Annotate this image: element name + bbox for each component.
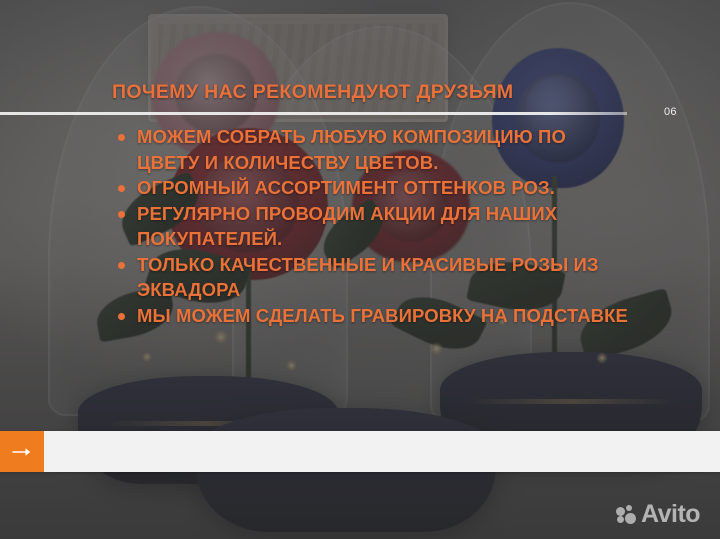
list-item: ОГРОМНЫЙ АССОРТИМЕНТ ОТТЕНКОВ РОЗ. xyxy=(112,175,632,201)
slide: ПОЧЕМУ НАС РЕКОМЕНДУЮТ ДРУЗЬЯМ 06 МОЖЕМ … xyxy=(0,0,720,539)
benefits-list: МОЖЕМ СОБРАТЬ ЛЮБУЮ КОМПОЗИЦИЮ ПО ЦВЕТУ … xyxy=(112,124,632,328)
arrow-right-icon xyxy=(12,446,32,458)
bottom-bar xyxy=(0,431,720,472)
list-item: ТОЛЬКО КАЧЕСТВЕННЫЕ И КРАСИВЫЕ РОЗЫ ИЗ Э… xyxy=(112,252,632,303)
slide-content: ПОЧЕМУ НАС РЕКОМЕНДУЮТ ДРУЗЬЯМ 06 МОЖЕМ … xyxy=(0,0,720,539)
list-item: МЫ МОЖЕМ СДЕЛАТЬ ГРАВИРОВКУ НА ПОДСТАВКЕ xyxy=(112,303,632,329)
page-number: 06 xyxy=(664,106,677,118)
list-item: РЕГУЛЯРНО ПРОВОДИМ АКЦИИ ДЛЯ НАШИХ ПОКУП… xyxy=(112,201,632,252)
avito-wordmark: Avito xyxy=(641,502,700,527)
avito-dots-icon xyxy=(616,505,636,525)
slide-title: ПОЧЕМУ НАС РЕКОМЕНДУЮТ ДРУЗЬЯМ xyxy=(112,81,514,104)
avito-watermark: Avito xyxy=(616,502,700,527)
list-item: МОЖЕМ СОБРАТЬ ЛЮБУЮ КОМПОЗИЦИЮ ПО ЦВЕТУ … xyxy=(112,124,632,175)
title-divider xyxy=(0,112,627,115)
next-slide-button[interactable] xyxy=(0,431,44,472)
